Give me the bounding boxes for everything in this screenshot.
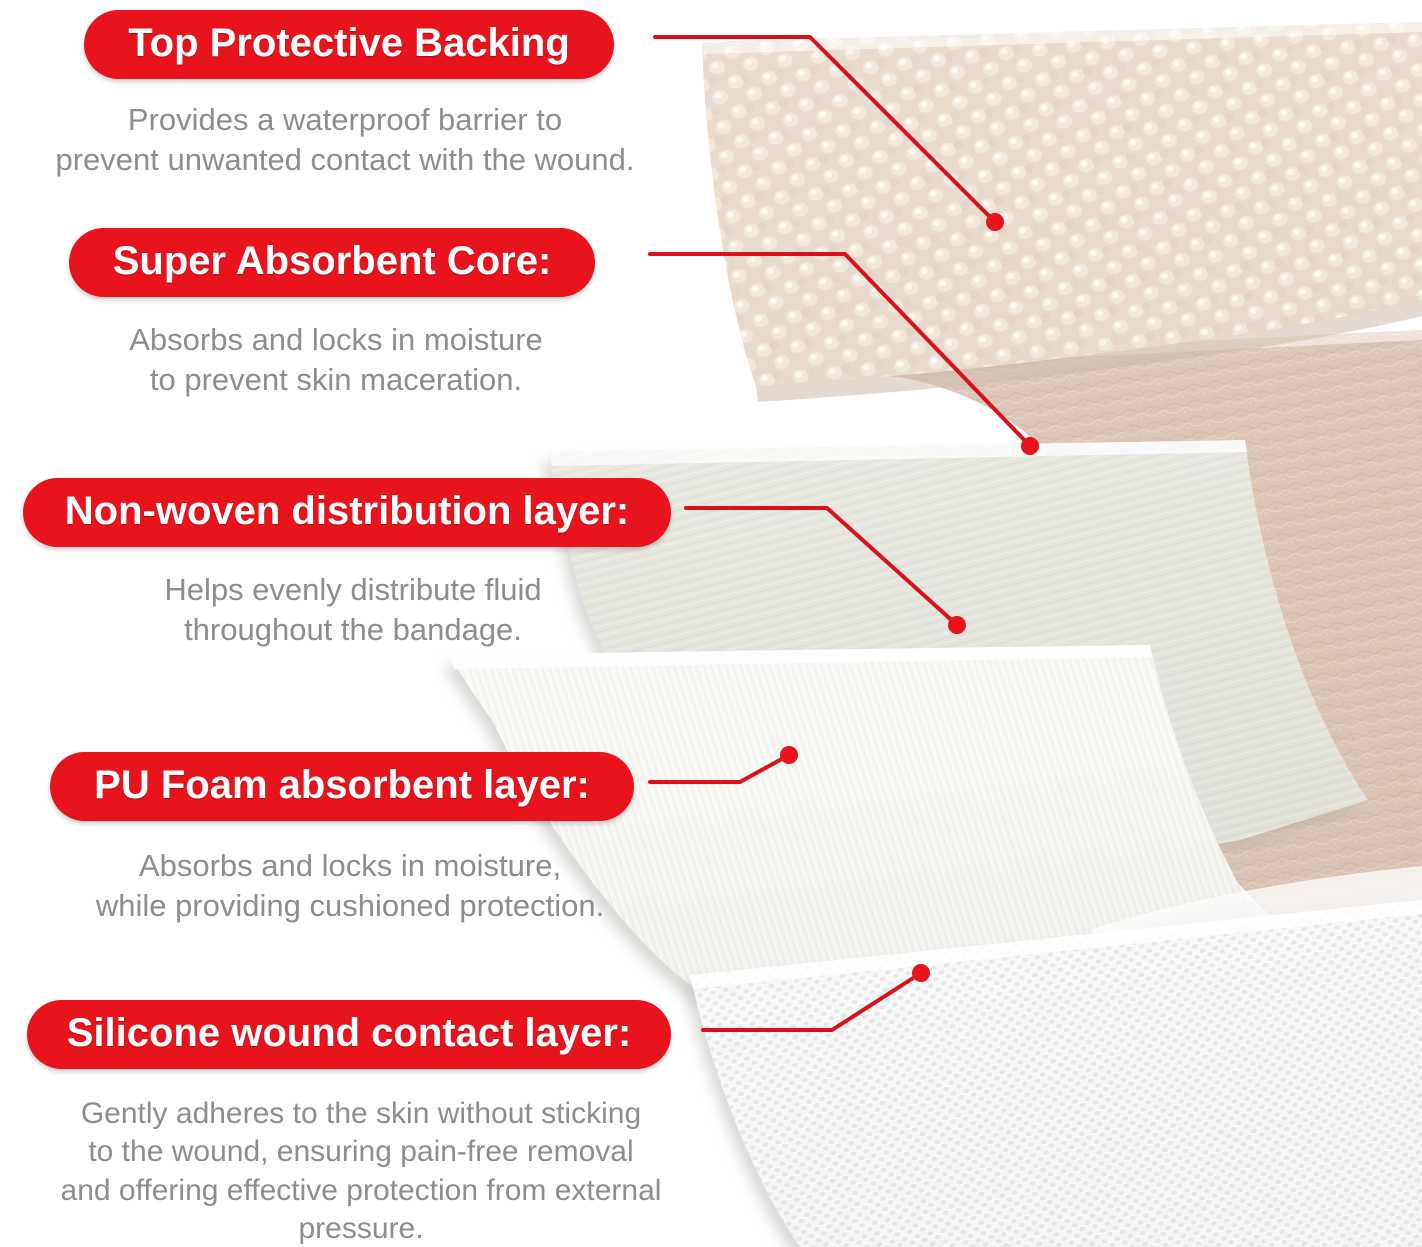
product-layer-infographic: Top Protective Backing Provides a waterp… <box>0 0 1422 1247</box>
callout-super-absorbent-core: Super Absorbent Core: Absorbs and locks … <box>0 228 672 399</box>
callout-pu-foam-absorbent-layer: PU Foam absorbent layer: Absorbs and loc… <box>0 752 700 925</box>
badge-non-woven-distribution-layer[interactable]: Non-woven distribution layer: <box>23 478 671 547</box>
badge-pu-foam-absorbent-layer[interactable]: PU Foam absorbent layer: <box>50 752 634 821</box>
description-non-woven-distribution-layer: Helps evenly distribute fluid throughout… <box>0 570 706 649</box>
description-pu-foam-absorbent-layer: Absorbs and locks in moisture, while pro… <box>0 846 700 925</box>
description-super-absorbent-core: Absorbs and locks in moisture to prevent… <box>0 320 672 399</box>
badge-super-absorbent-core[interactable]: Super Absorbent Core: <box>69 228 596 297</box>
badge-top-protective-backing[interactable]: Top Protective Backing <box>84 10 614 79</box>
callout-non-woven-distribution-layer: Non-woven distribution layer: Helps even… <box>0 478 706 649</box>
badge-silicone-wound-contact-layer[interactable]: Silicone wound contact layer: <box>27 1000 672 1069</box>
description-top-protective-backing: Provides a waterproof barrier to prevent… <box>0 100 690 179</box>
callout-silicone-wound-contact-layer: Silicone wound contact layer: Gently adh… <box>0 1000 722 1247</box>
callout-top-protective-backing: Top Protective Backing Provides a waterp… <box>0 10 690 179</box>
description-silicone-wound-contact-layer: Gently adheres to the skin without stick… <box>0 1095 722 1247</box>
